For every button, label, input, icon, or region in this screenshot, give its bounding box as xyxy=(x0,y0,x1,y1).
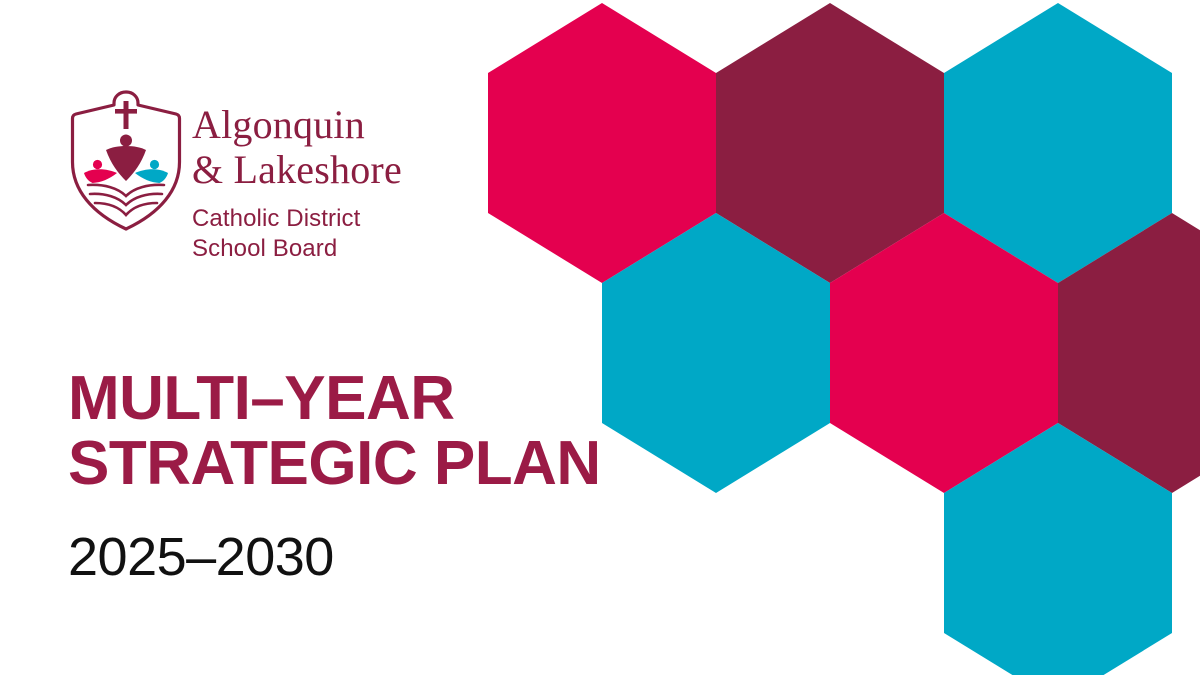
figure-left-crimson-icon xyxy=(84,160,117,183)
headline-block: MULTI–YEAR STRATEGIC PLAN 2025–2030 xyxy=(68,366,748,588)
board-logo: Algonquin & Lakeshore Catholic District … xyxy=(64,84,464,304)
hex-top-mid-maroon xyxy=(716,3,944,283)
hex-mid-center-crimson xyxy=(830,213,1058,493)
figure-right-teal-icon xyxy=(135,160,168,183)
hex-bottom-right-teal xyxy=(944,423,1172,675)
hex-top-right-teal xyxy=(944,3,1172,283)
algonquin-lakeshore-shield-crest-icon xyxy=(64,84,188,234)
hex-top-left-crimson xyxy=(488,3,716,283)
page-subtitle-years: 2025–2030 xyxy=(68,496,748,587)
logo-line-catholic-district: Catholic District xyxy=(192,192,522,234)
hex-mid-right-maroon xyxy=(1058,213,1200,493)
open-book-icon xyxy=(88,185,164,215)
slide-canvas: Algonquin & Lakeshore Catholic District … xyxy=(0,0,1200,675)
logo-line-algonquin: Algonquin xyxy=(192,102,522,147)
cross-icon xyxy=(115,101,137,129)
logo-wordmark: Algonquin & Lakeshore Catholic District … xyxy=(192,102,522,264)
logo-line-school-board: School Board xyxy=(192,234,522,264)
logo-line-lakeshore: & Lakeshore xyxy=(192,147,522,192)
page-title: MULTI–YEAR STRATEGIC PLAN xyxy=(68,366,748,496)
